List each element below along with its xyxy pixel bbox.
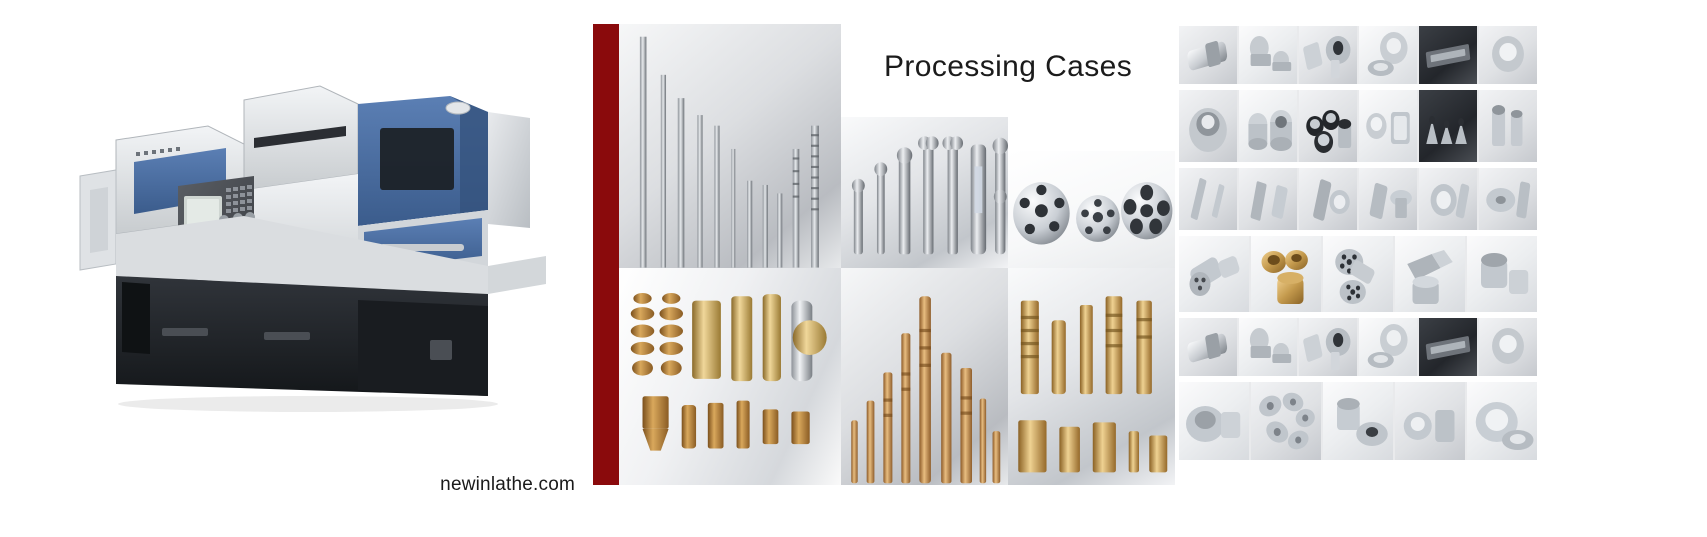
center-panel-processing-cases: Processing Cases — [593, 0, 1175, 537]
strip-4-cell-3 — [1323, 236, 1393, 312]
parts-strip-stack — [1179, 26, 1537, 492]
strip-6-cell-4 — [1395, 382, 1465, 460]
strip-6-cell-2 — [1251, 382, 1321, 460]
strip-5-cell-4 — [1359, 318, 1417, 376]
strip-2-cell-2 — [1239, 90, 1297, 162]
tile-brass-connectors — [1008, 268, 1175, 485]
copper-pins-art — [841, 268, 1008, 485]
collage-title: Processing Cases — [884, 50, 1132, 84]
strip-3-cell-4 — [1359, 168, 1417, 230]
strip-4-cell-4 — [1395, 236, 1465, 312]
strip-6-cell-1 — [1179, 382, 1249, 460]
right-panel-parts-strips — [1175, 0, 1707, 537]
strip-5-cell-2 — [1239, 318, 1297, 376]
strip-2-cell-1 — [1179, 90, 1237, 162]
strip-2 — [1179, 90, 1537, 162]
strip-1 — [1179, 26, 1537, 84]
strip-2-cell-6 — [1479, 90, 1537, 162]
strip-4-cell-2 — [1251, 236, 1321, 312]
strip-1-cell-1 — [1179, 26, 1237, 84]
watermark-url: newinlathe.com — [0, 474, 575, 496]
tile-surgical-tools — [841, 117, 1008, 268]
strip-1-cell-5 — [1419, 26, 1477, 84]
strip-6-cell-5 — [1467, 382, 1537, 460]
brass-fittings-art — [619, 268, 841, 485]
surgical-tools-art — [841, 117, 1008, 268]
page-root: newinlathe.com — [0, 0, 1707, 537]
hubs-rotors-art — [1008, 151, 1175, 268]
strip-5-cell-3 — [1299, 318, 1357, 376]
long-shafts-art — [619, 24, 841, 268]
tile-copper-pins — [841, 268, 1008, 485]
strip-1-cell-2 — [1239, 26, 1297, 84]
strip-1-cell-3 — [1299, 26, 1357, 84]
strip-1-cell-6 — [1479, 26, 1537, 84]
strip-3-cell-3 — [1299, 168, 1357, 230]
collage-frame: Processing Cases — [593, 24, 1175, 485]
tile-hubs-rotors — [1008, 151, 1175, 268]
strip-2-cell-5 — [1419, 90, 1477, 162]
accent-bar-red — [593, 24, 619, 485]
strip-3-cell-5 — [1419, 168, 1477, 230]
strip-4 — [1179, 236, 1537, 312]
cnc-lathe-svg — [58, 78, 548, 428]
strip-5-cell-6 — [1479, 318, 1537, 376]
strip-1-cell-4 — [1359, 26, 1417, 84]
strip-6 — [1179, 382, 1537, 460]
strip-3-cell-1 — [1179, 168, 1237, 230]
cnc-lathe-illustration — [58, 78, 548, 428]
strip-4-cell-5 — [1467, 236, 1537, 312]
strip-4-cell-1 — [1179, 236, 1249, 312]
collage-grid: Processing Cases — [619, 24, 1175, 485]
strip-2-cell-4 — [1359, 90, 1417, 162]
strip-2-cell-3 — [1299, 90, 1357, 162]
strip-5-cell-1 — [1179, 318, 1237, 376]
strip-5 — [1179, 318, 1537, 376]
left-panel-machine-photo: newinlathe.com — [0, 0, 593, 537]
tile-long-shafts — [619, 24, 841, 268]
strip-3-cell-2 — [1239, 168, 1297, 230]
strip-3 — [1179, 168, 1537, 230]
strip-6-cell-3 — [1323, 382, 1393, 460]
strip-3-cell-6 — [1479, 168, 1537, 230]
brass-connectors-art — [1008, 268, 1175, 485]
strip-5-cell-5 — [1419, 318, 1477, 376]
tile-brass-fittings — [619, 268, 841, 485]
